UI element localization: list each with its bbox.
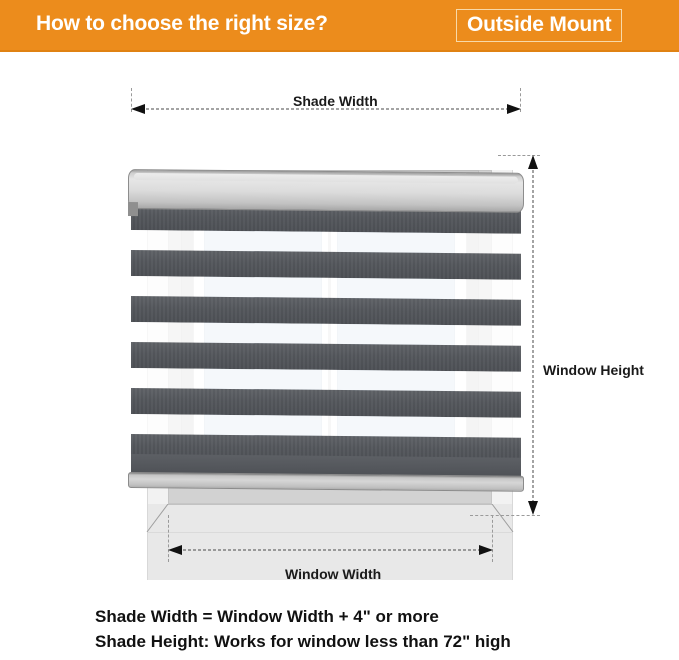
window-sill-top-edge — [168, 504, 492, 505]
shade-opaque-band — [131, 388, 521, 418]
extension-line-window-height-bottom — [470, 515, 540, 516]
dimension-arrow-window-width — [168, 544, 493, 556]
footer-note-width: Shade Width = Window Width + 4" or more — [95, 604, 635, 629]
shade-opaque-band — [131, 342, 521, 372]
measurement-diagram: Shade Width Window Height Window Width — [0, 52, 679, 597]
window-sill-face-line — [147, 532, 513, 533]
label-shade-width: Shade Width — [293, 93, 378, 109]
window-sill-miter-right — [491, 504, 521, 533]
mount-type-badge: Outside Mount — [456, 9, 622, 42]
dimension-arrow-window-height — [527, 155, 539, 515]
window-sill-miter-left — [139, 504, 169, 533]
footer-notes: Shade Width = Window Width + 4" or more … — [95, 604, 635, 654]
shade-fabric — [131, 204, 521, 480]
shade-headrail-endcap — [128, 202, 138, 216]
footer-note-height: Shade Height: Works for window less than… — [95, 629, 635, 654]
shade-opaque-band — [131, 296, 521, 326]
label-window-width: Window Width — [285, 566, 381, 582]
page-title: How to choose the right size? — [36, 12, 328, 36]
shade-opaque-band — [131, 250, 521, 280]
header-banner: How to choose the right size? Outside Mo… — [0, 0, 679, 52]
label-window-height: Window Height — [543, 362, 644, 378]
